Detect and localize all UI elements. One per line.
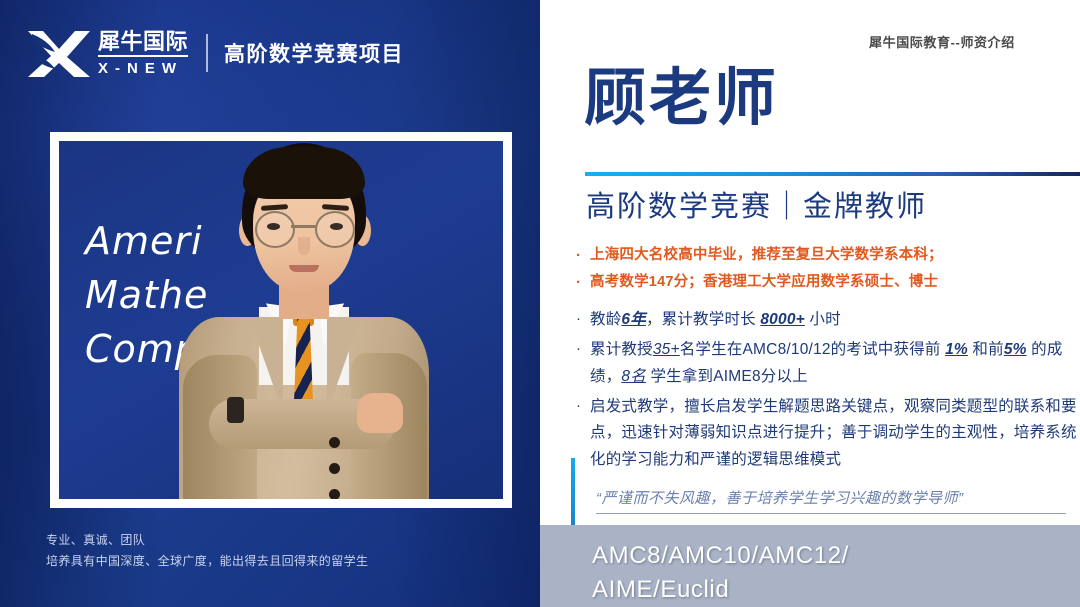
bullet-marker-icon: · — [576, 271, 590, 295]
portrait-button — [329, 489, 340, 499]
list-item: · 启发式教学，擅长启发学生解题思路关键点，观察同类题型的联系和要点，迅速针对薄… — [576, 394, 1080, 475]
portrait-glasses-left-lens — [255, 211, 295, 248]
portrait-glasses-bridge — [291, 225, 317, 228]
brand-name-en: X-NEW — [98, 61, 188, 76]
list-item-text: 累计教授35+名学生在AMC8/10/12的考试中获得前 1% 和前5% 的成绩… — [590, 337, 1080, 391]
list-item: · 累计教授35+名学生在AMC8/10/12的考试中获得前 1% 和前5% 的… — [576, 337, 1080, 391]
portrait-glasses-right-lens — [315, 211, 355, 248]
page-header-label: 犀牛国际教育--师资介绍 — [869, 32, 1015, 51]
teacher-quote: “严谨而不失风趣，善于培养学生学习兴趣的数学导师” — [596, 487, 1066, 514]
page-subtitle: 高阶数学竞赛｜金牌教师 — [586, 190, 927, 225]
exam-subjects-banner: AMC8/AMC10/AMC12/ AIME/Euclid — [540, 525, 1080, 607]
bullet-marker-icon: · — [576, 337, 590, 361]
left-footer-slogan: 专业、真诚、团队 培养具有中国深度、全球广度，能出得去且回得来的留学生 — [46, 530, 368, 572]
credentials-list: · 上海四大名校高中毕业，推荐至复旦大学数学系本科； · 高考数学147分；香港… — [576, 244, 1080, 477]
portrait-nose — [298, 237, 310, 255]
portrait-wristwatch — [227, 397, 244, 423]
bullet-marker-icon: · — [576, 244, 590, 268]
list-item-text: 教龄6年，累计教学时长 8000+ 小时 — [590, 307, 1080, 334]
list-item: · 高考数学147分；香港理工大学应用数学系硕士、博士 — [576, 271, 1080, 295]
list-item-text: 上海四大名校高中毕业，推荐至复旦大学数学系本科； — [590, 244, 1080, 267]
portrait-hair-fringe — [243, 147, 365, 199]
list-item: · 教龄6年，累计教学时长 8000+ 小时 — [576, 307, 1080, 334]
portrait-mouth — [289, 265, 319, 272]
teacher-photo-frame: Ameri Mathe Compe — [50, 132, 512, 508]
slide-canvas: 犀牛国际 X-NEW 高阶数学竞赛项目 Ameri Mathe Compe — [0, 0, 1080, 607]
bullet-marker-icon: · — [576, 394, 590, 418]
brand-tagline: 高阶数学竞赛项目 — [224, 38, 404, 68]
teacher-portrait-illustration — [179, 141, 429, 499]
title-underline-rule — [585, 172, 1080, 176]
rhino-x-logo-icon — [26, 25, 92, 81]
logo-divider — [206, 34, 208, 72]
bullet-marker-icon: · — [576, 307, 590, 331]
teacher-photo: Ameri Mathe Compe — [59, 141, 503, 499]
list-item: · 上海四大名校高中毕业，推荐至复旦大学数学系本科； — [576, 244, 1080, 268]
list-item-text: 高考数学147分；香港理工大学应用数学系硕士、博士 — [590, 271, 1080, 294]
footer-line-1: 专业、真诚、团队 — [46, 530, 368, 551]
portrait-button — [329, 463, 340, 474]
cyan-accent-bar — [571, 458, 575, 526]
brand-logo-wordmark: 犀牛国际 X-NEW — [98, 27, 188, 79]
page-title: 顾老师 — [584, 68, 779, 130]
footer-line-2: 培养具有中国深度、全球广度，能出得去且回得来的留学生 — [46, 551, 368, 572]
portrait-hand — [357, 393, 403, 433]
exam-subjects-text: AMC8/AMC10/AMC12/ AIME/Euclid — [592, 539, 849, 607]
brand-name-cn: 犀牛国际 — [98, 31, 188, 57]
portrait-button — [329, 437, 340, 448]
list-item-text: 启发式教学，擅长启发学生解题思路关键点，观察同类题型的联系和要点，迅速针对薄弱知… — [590, 394, 1080, 475]
brand-logo-block: 犀牛国际 X-NEW 高阶数学竞赛项目 — [26, 24, 404, 82]
